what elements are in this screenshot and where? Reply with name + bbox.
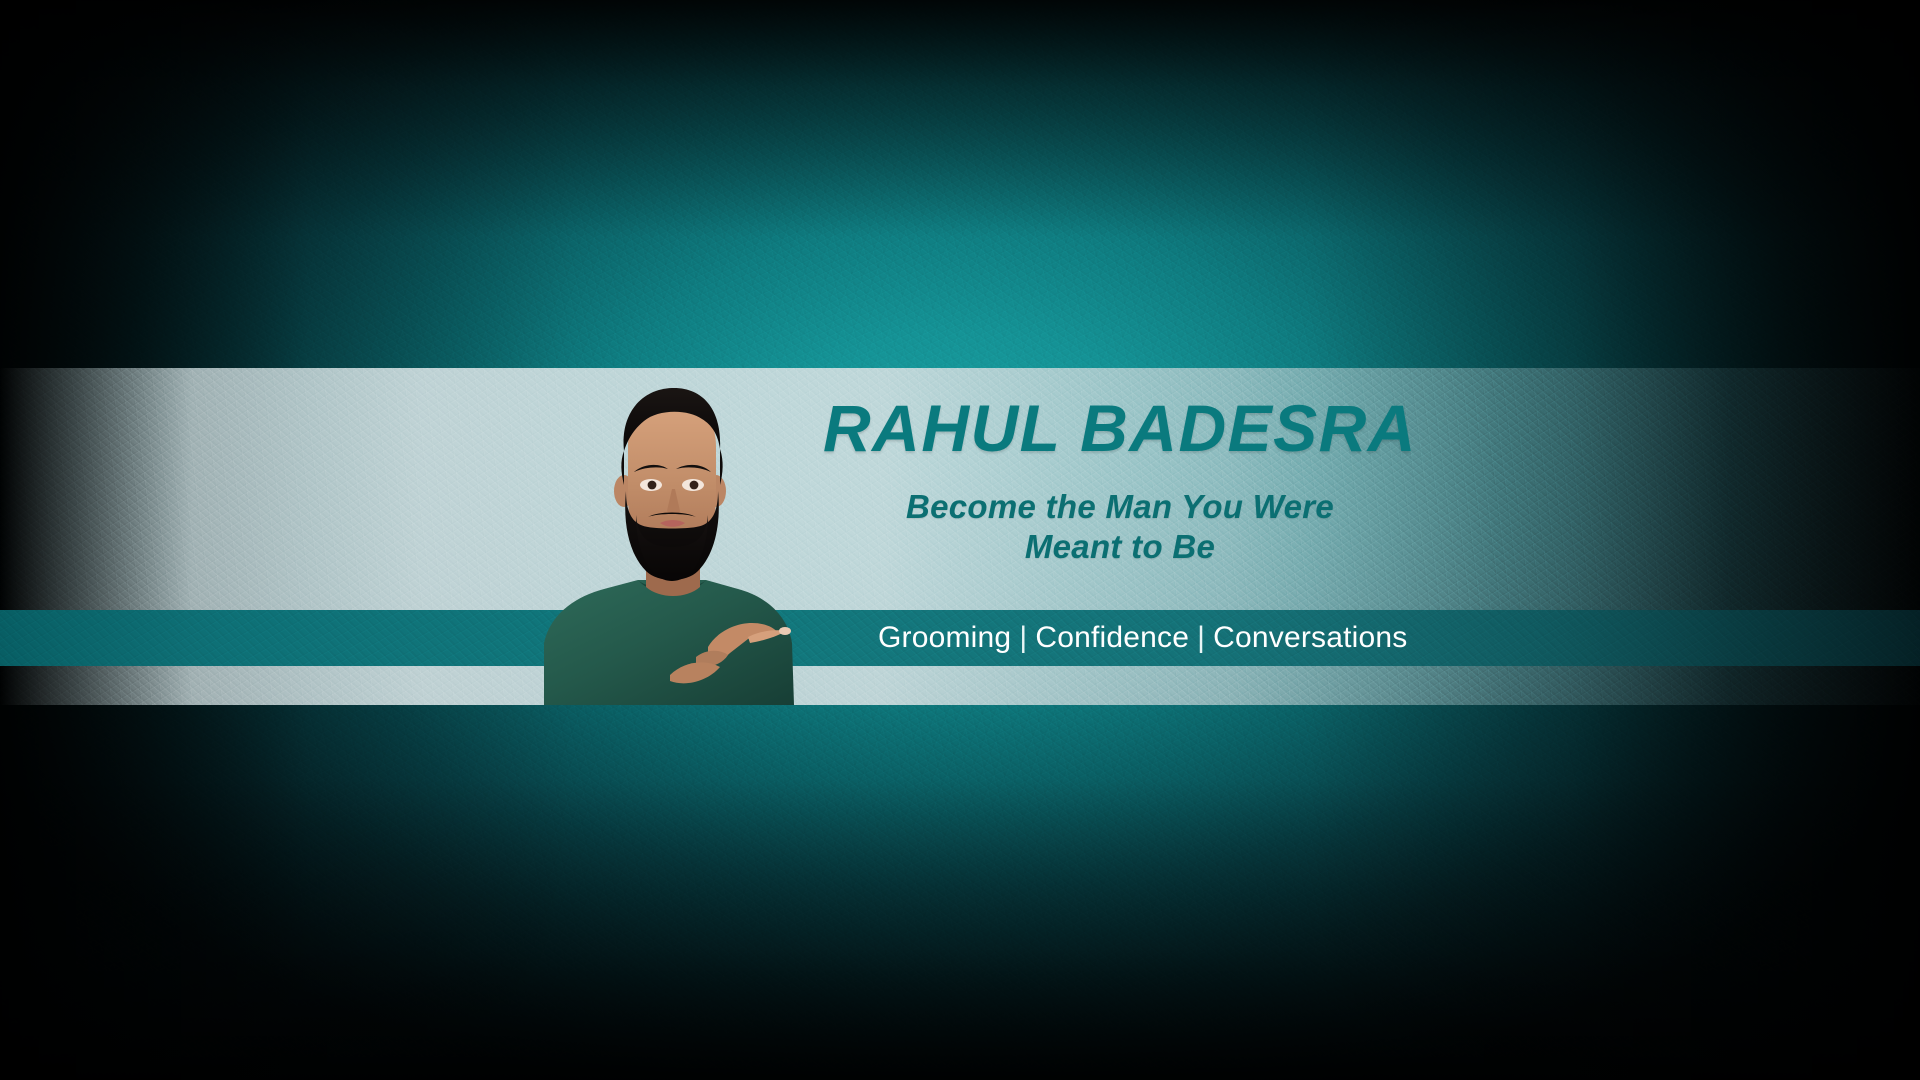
keyword-confidence: Confidence bbox=[1035, 621, 1189, 654]
page-title: RAHUL BADESRA bbox=[800, 395, 1440, 461]
portrait-illustration bbox=[520, 375, 840, 705]
keyword-strip: Grooming|Confidence|Conversations bbox=[0, 610, 1920, 666]
pupil-left bbox=[648, 481, 657, 490]
tagline-line-1: Become the Man You Were bbox=[800, 487, 1440, 527]
text-block: RAHUL BADESRA Become the Man You Were Me… bbox=[800, 395, 1440, 568]
shirt bbox=[544, 580, 794, 705]
pupil-right bbox=[690, 481, 699, 490]
keyword-separator-2: | bbox=[1189, 623, 1213, 653]
tagline: Become the Man You Were Meant to Be bbox=[800, 487, 1440, 568]
keyword-conversations: Conversations bbox=[1213, 621, 1407, 654]
fingernail bbox=[779, 627, 791, 635]
channel-banner: Grooming|Confidence|Conversations bbox=[0, 0, 1920, 1080]
portrait-photo bbox=[520, 375, 840, 705]
keyword-grooming: Grooming bbox=[878, 621, 1011, 654]
keyword-list: Grooming|Confidence|Conversations bbox=[878, 623, 1407, 653]
tagline-line-2: Meant to Be bbox=[800, 527, 1440, 567]
keyword-separator-1: | bbox=[1011, 623, 1035, 653]
